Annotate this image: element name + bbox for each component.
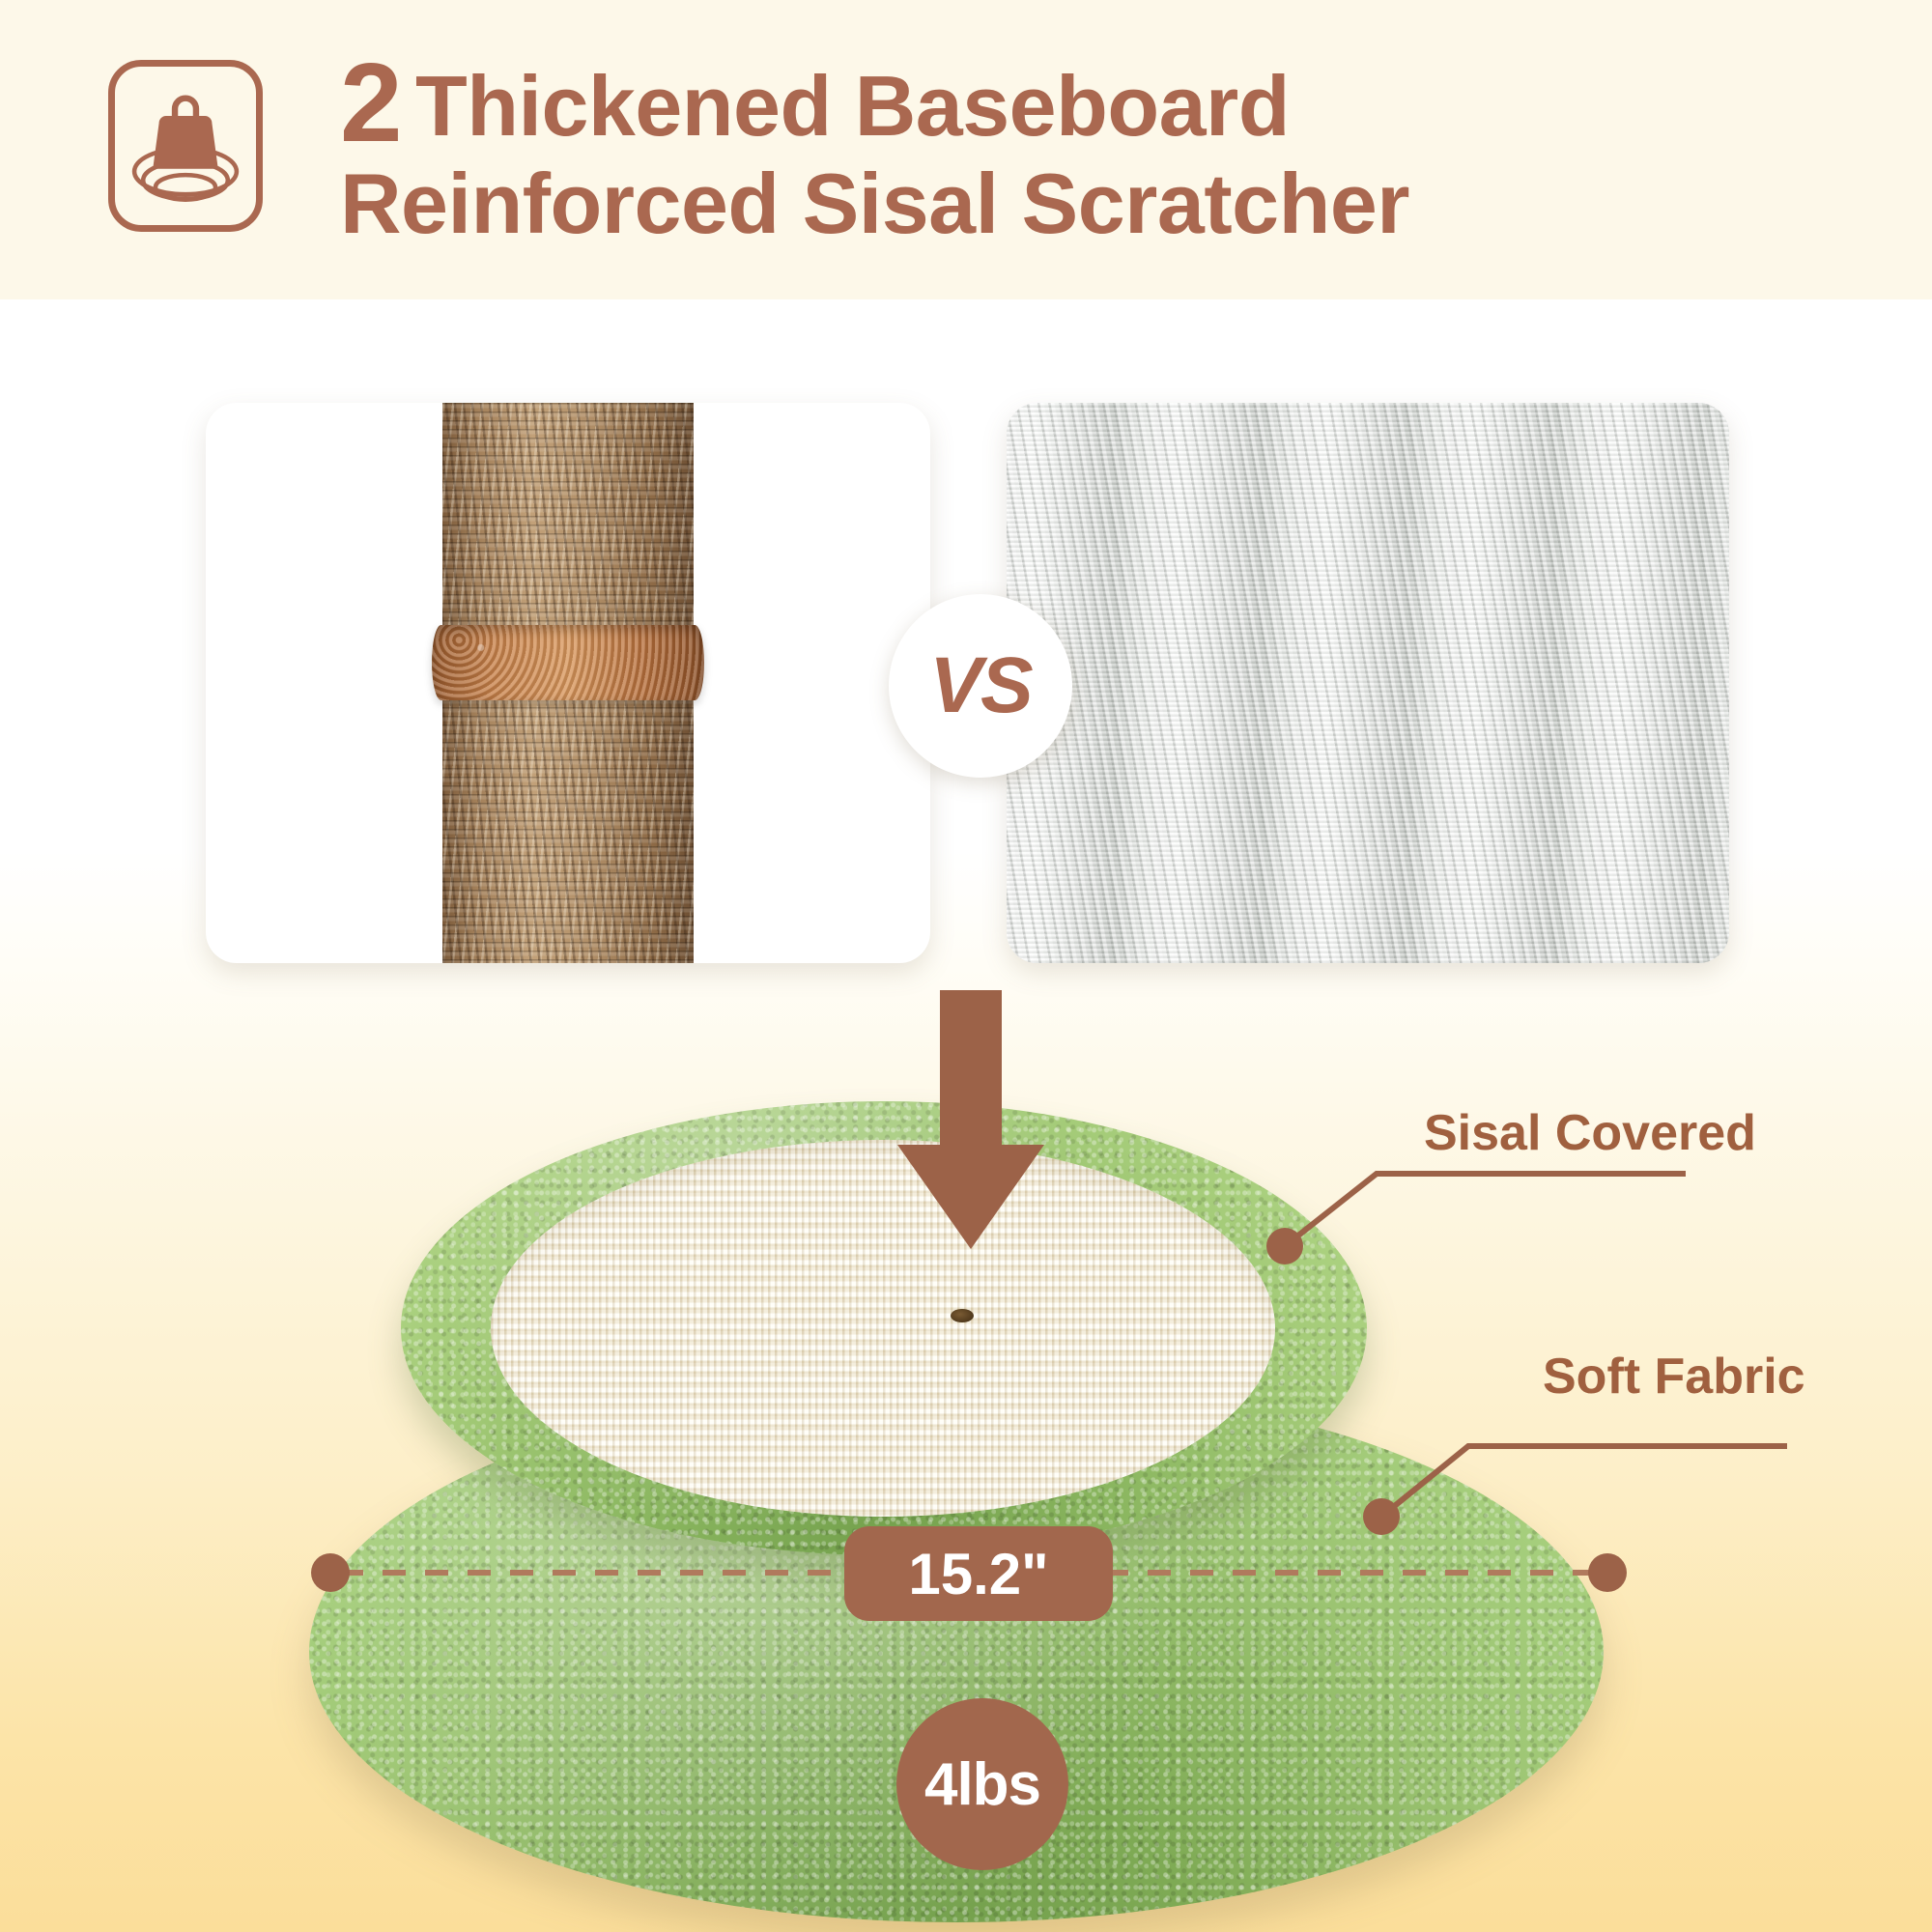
dimension-value: 15.2" xyxy=(908,1541,1048,1607)
weight-value: 4lbs xyxy=(924,1750,1040,1819)
title-line-2: Reinforced Sisal Scratcher xyxy=(340,158,1789,248)
title-line-1: Thickened Baseboard xyxy=(415,58,1290,154)
callout-sisal-covered: Sisal Covered xyxy=(1424,1104,1756,1162)
competitor-photo-card xyxy=(1007,403,1729,963)
header-band: 2Thickened Baseboard Reinforced Sisal Sc… xyxy=(0,0,1932,299)
fuzzy-band xyxy=(432,625,704,700)
infographic-canvas: 2Thickened Baseboard Reinforced Sisal Sc… xyxy=(0,0,1932,1932)
our-product-photo-card: Dia=2.7" xyxy=(206,403,930,963)
white-sisal-posts-image xyxy=(1007,403,1729,963)
sisal-scratch-surface xyxy=(491,1140,1275,1517)
weight-badge: 4lbs xyxy=(896,1698,1068,1870)
sisal-center-knot xyxy=(951,1309,974,1322)
vs-label: VS xyxy=(929,640,1031,731)
dimension-badge: 15.2" xyxy=(844,1526,1113,1621)
vs-badge: VS xyxy=(889,594,1072,778)
step-number: 2 xyxy=(340,40,402,165)
page-title: 2Thickened Baseboard Reinforced Sisal Sc… xyxy=(340,46,1789,248)
weight-on-platform-icon xyxy=(108,60,263,232)
callout-soft-fabric: Soft Fabric xyxy=(1543,1348,1805,1406)
down-arrow-icon xyxy=(894,990,1048,1251)
